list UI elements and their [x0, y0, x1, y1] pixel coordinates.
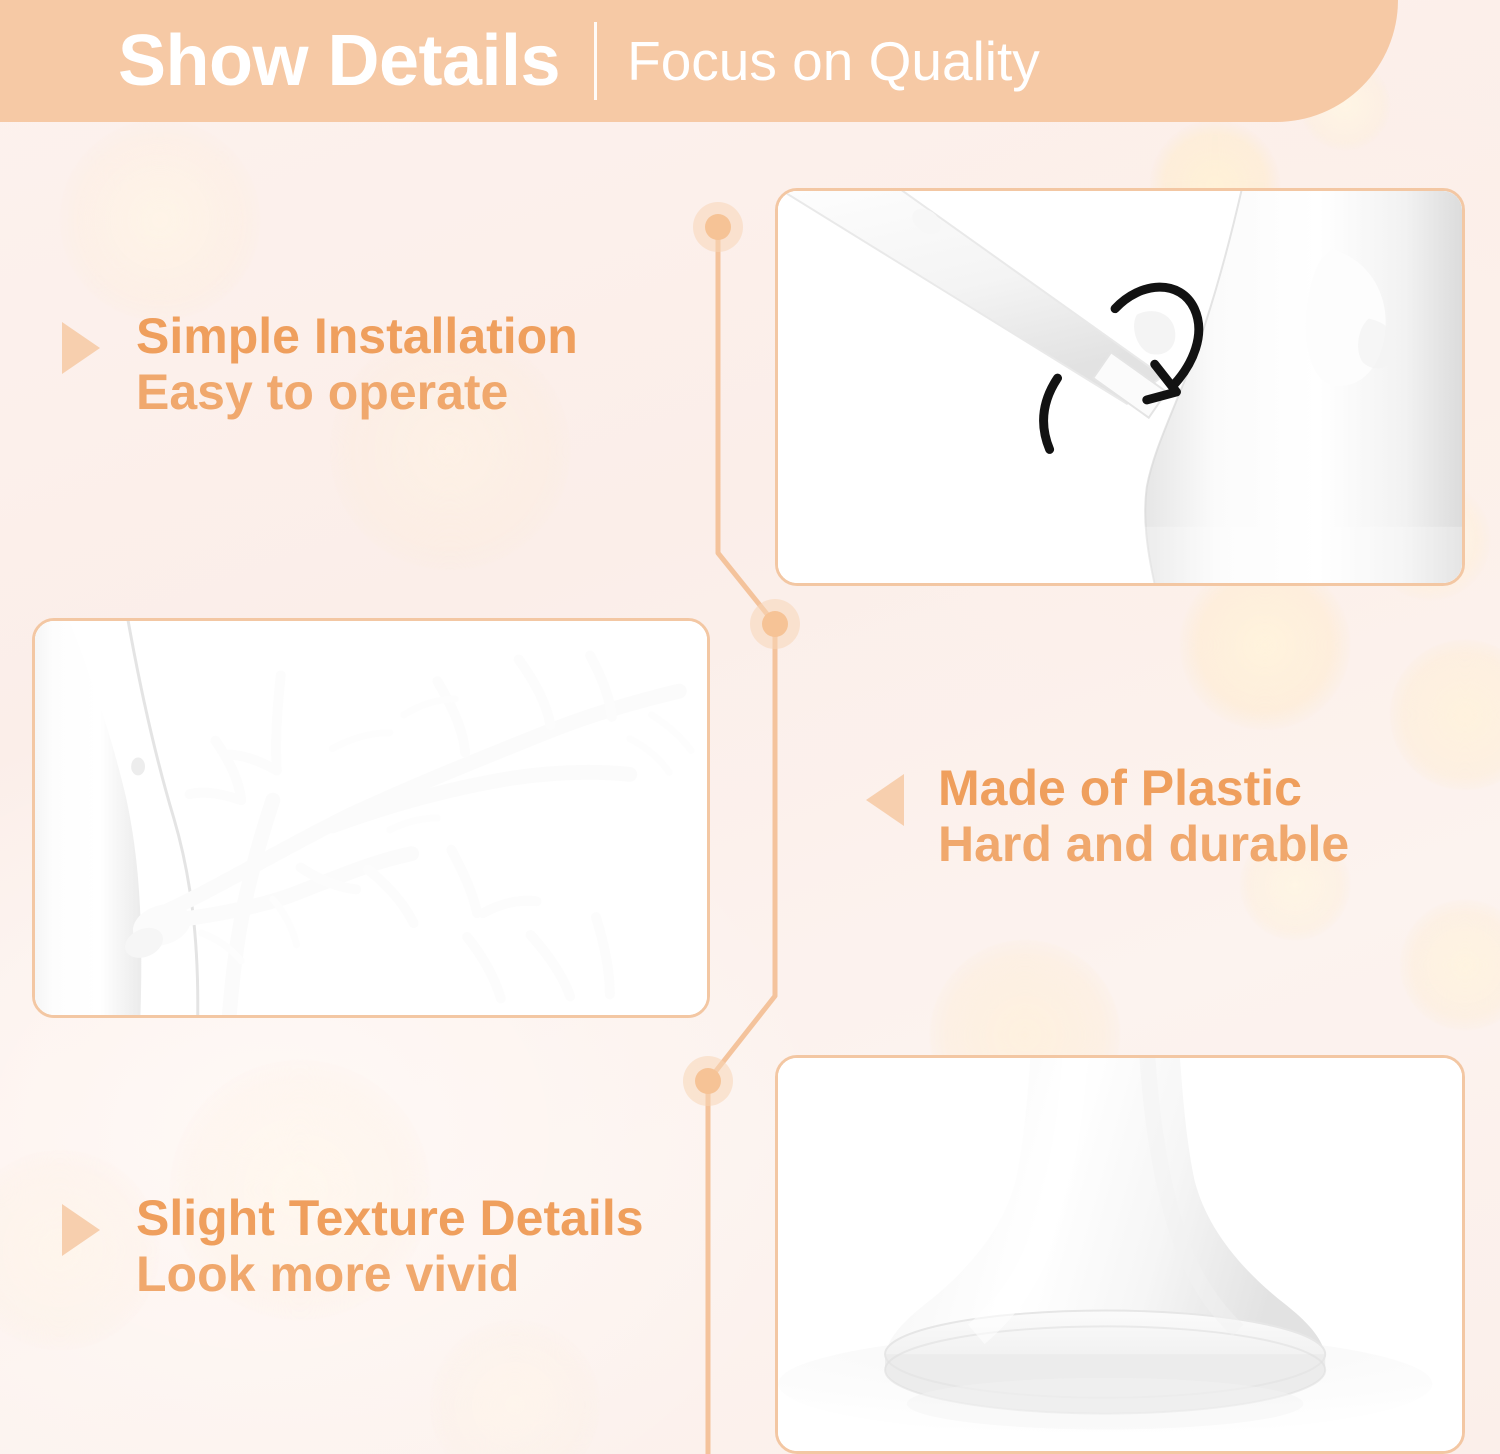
header-banner: Show Details Focus on Quality [0, 0, 1398, 122]
header-divider [594, 22, 597, 100]
triangle-left-icon [866, 774, 904, 826]
header-content: Show Details Focus on Quality [118, 0, 1040, 122]
feature-line-1: Slight Texture Details [136, 1190, 644, 1246]
feature-line-2: Hard and durable [938, 816, 1349, 872]
feature-line-1: Simple Installation [136, 308, 578, 364]
header-subtitle: Focus on Quality [627, 34, 1040, 89]
feature-label-slight-texture-details: Slight Texture Details Look more vivid [62, 1190, 644, 1302]
feature-label-text: Simple Installation Easy to operate [136, 308, 578, 420]
feature-line-1: Made of Plastic [938, 760, 1349, 816]
branch-texture-photo [35, 621, 707, 1015]
feature-line-2: Easy to operate [136, 364, 578, 420]
feature-label-simple-installation: Simple Installation Easy to operate [62, 308, 578, 420]
base-photo [778, 1058, 1462, 1451]
infographic-page: Show Details Focus on Quality [0, 0, 1500, 1454]
installation-photo-card [775, 188, 1465, 586]
feature-label-text: Made of Plastic Hard and durable [938, 760, 1349, 872]
triangle-right-icon [62, 322, 100, 374]
feature-line-2: Look more vivid [136, 1246, 644, 1302]
feature-label-text: Slight Texture Details Look more vivid [136, 1190, 644, 1302]
feature-label-made-of-plastic: Made of Plastic Hard and durable [866, 760, 1349, 872]
branch-texture-photo-card [32, 618, 710, 1018]
page-title: Show Details [118, 25, 560, 97]
triangle-right-icon [62, 1204, 100, 1256]
base-photo-card [775, 1055, 1465, 1454]
installation-photo [778, 191, 1462, 583]
